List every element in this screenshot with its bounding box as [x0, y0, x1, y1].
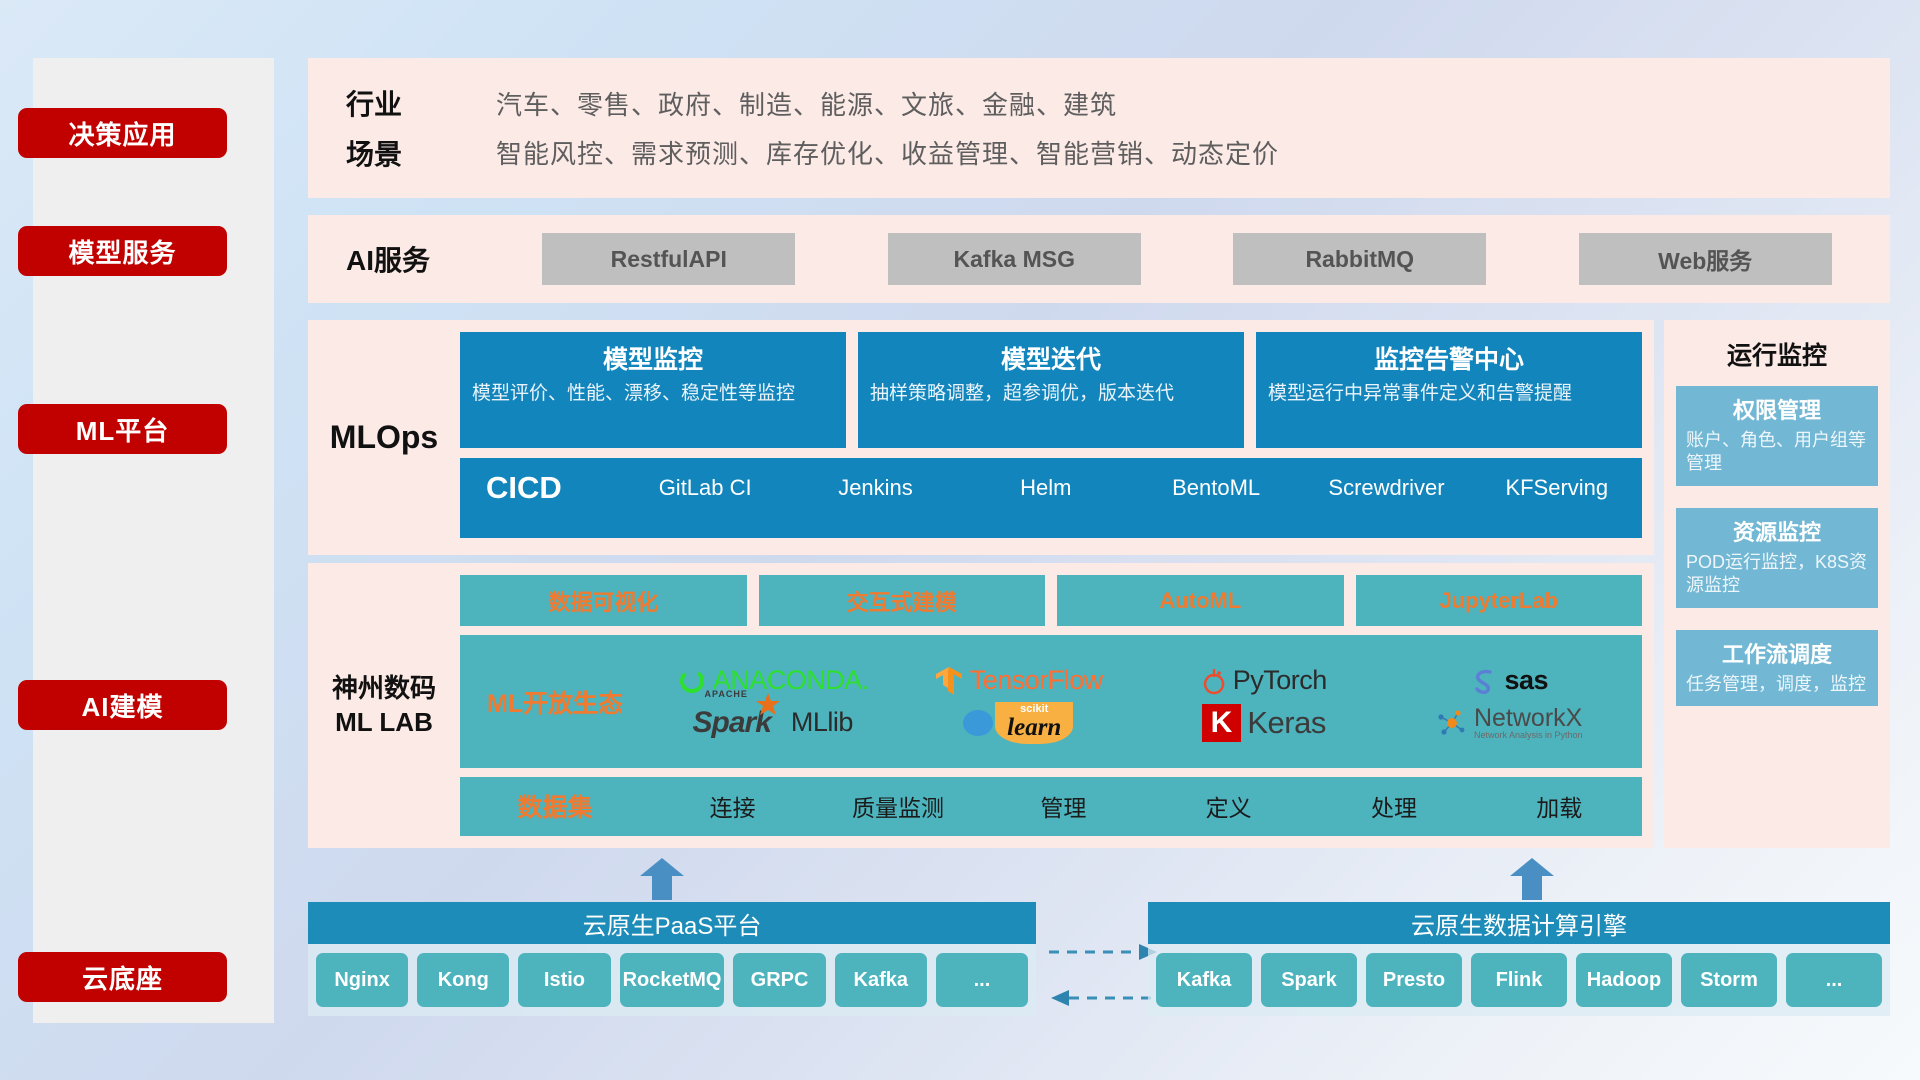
stage-label: 模型服务 [68, 233, 176, 270]
mlops-card-title: 模型监控 [472, 340, 834, 376]
mlops-card[interactable]: 监控告警中心 模型运行中异常事件定义和告警提醒 [1256, 332, 1642, 448]
dataset-item-group: 连接 质量监测 管理 定义 处理 加载 [650, 789, 1642, 823]
ai-service-button[interactable]: Web服务 [1579, 233, 1832, 285]
cloud-chip[interactable]: RocketMQ [620, 953, 725, 1007]
decision-application-band: 行业 场景 汽车、零售、政府、制造、能源、文旅、金融、建筑 智能风控、需求预测、… [308, 58, 1890, 198]
cloud-chip[interactable]: ... [936, 953, 1028, 1007]
dataset-item[interactable]: 连接 [650, 789, 815, 823]
sas-icon [1470, 667, 1498, 695]
ai-service-button-group: RestfulAPI Kafka MSG RabbitMQ Web服务 [496, 233, 1890, 285]
cloud-chip[interactable]: Flink [1471, 953, 1567, 1007]
ml-ecosystem-logo-grid: ANACONDA. TensorFlow [650, 660, 1642, 744]
cicd-title: CICD [460, 458, 620, 506]
monitoring-card[interactable]: 权限管理 账户、角色、用户组等管理 [1676, 386, 1878, 486]
anaconda-icon [677, 666, 707, 696]
stage-label: ML平台 [76, 411, 170, 448]
monitoring-card-desc: 账户、角色、用户组等管理 [1686, 429, 1868, 476]
cicd-item[interactable]: GitLab CI [620, 458, 790, 502]
monitoring-card-title: 权限管理 [1686, 393, 1868, 425]
mlops-card-title: 模型迭代 [870, 340, 1232, 376]
cicd-item-group: GitLab CI Jenkins Helm BentoML Screwdriv… [620, 458, 1642, 502]
mlops-content: 模型监控 模型评价、性能、漂移、稳定性等监控 模型迭代 抽样策略调整，超参调优，… [460, 320, 1654, 555]
cicd-bar: CICD GitLab CI Jenkins Helm BentoML Scre… [460, 458, 1642, 538]
keras-logo-text: Keras [1247, 705, 1325, 741]
monitoring-card[interactable]: 工作流调度 任务管理，调度，监控 [1676, 630, 1878, 706]
ml-lab-label-line2: ML LAB [335, 706, 433, 740]
tensorflow-logo-text: TensorFlow [970, 665, 1103, 696]
pytorch-logo-text: PyTorch [1233, 665, 1327, 696]
decision-value-industry: 汽车、零售、政府、制造、能源、文旅、金融、建筑 [496, 85, 1890, 122]
diagram-canvas: 决策应用 模型服务 ML平台 AI建模 云底座 行业 场景 汽车、零售、政府、制… [0, 0, 1920, 1080]
cicd-item[interactable]: Helm [961, 458, 1131, 502]
spark-mllib-logo: APACHE Spark MLlib [693, 706, 853, 740]
networkx-icon [1436, 708, 1468, 738]
cloud-chip[interactable]: Istio [518, 953, 610, 1007]
cloud-chip[interactable]: ... [1786, 953, 1882, 1007]
arrow-up-paas-icon [640, 858, 684, 900]
pytorch-icon [1201, 666, 1227, 696]
dataset-label: 数据集 [460, 788, 650, 824]
tool-box[interactable]: 数据可视化 [460, 575, 747, 626]
decision-value-group: 汽车、零售、政府、制造、能源、文旅、金融、建筑 智能风控、需求预测、库存优化、收… [496, 73, 1890, 183]
mlops-card[interactable]: 模型监控 模型评价、性能、漂移、稳定性等监控 [460, 332, 846, 448]
networkx-logo: NetworkX Network Analysis in Python [1436, 706, 1583, 740]
ml-lab-label: 神州数码 ML LAB [308, 563, 460, 848]
stage-label: 云底座 [82, 959, 163, 996]
stage-label: 决策应用 [68, 115, 176, 152]
cloud-native-data-engine-title: 云原生数据计算引擎 [1148, 902, 1890, 944]
mlops-card-desc: 模型运行中异常事件定义和告警提醒 [1268, 382, 1630, 407]
dataset-item[interactable]: 定义 [1146, 789, 1311, 823]
dataset-item[interactable]: 管理 [981, 789, 1146, 823]
scikit-learn-icon [963, 708, 997, 738]
mlops-card-title: 监控告警中心 [1268, 340, 1630, 376]
arrow-up-data-engine-icon [1510, 858, 1554, 900]
monitoring-card-desc: POD运行监控，K8S资源监控 [1686, 551, 1868, 598]
decision-label-industry: 行业 [346, 83, 496, 123]
cloud-chip[interactable]: Nginx [316, 953, 408, 1007]
mllib-logo-text: MLlib [791, 707, 853, 738]
dataset-item[interactable]: 处理 [1311, 789, 1476, 823]
cicd-item[interactable]: Jenkins [790, 458, 960, 502]
keras-k-icon: K [1202, 704, 1242, 742]
cloud-native-paas-block: 云原生PaaS平台 Nginx Kong Istio RocketMQ GRPC… [308, 902, 1036, 1016]
spark-apache-text: APACHE [705, 689, 748, 699]
mlops-card-desc: 模型评价、性能、漂移、稳定性等监控 [472, 382, 834, 407]
ai-service-button[interactable]: RabbitMQ [1233, 233, 1486, 285]
cloud-native-data-engine-chip-group: Kafka Spark Presto Flink Hadoop Storm ..… [1148, 944, 1890, 1016]
runtime-monitoring-title: 运行监控 [1676, 336, 1878, 372]
stage-pill-decision[interactable]: 决策应用 [18, 108, 227, 158]
cloud-native-paas-chip-group: Nginx Kong Istio RocketMQ GRPC Kafka ... [308, 944, 1036, 1016]
cloud-chip[interactable]: GRPC [733, 953, 825, 1007]
cloud-chip[interactable]: Kafka [835, 953, 927, 1007]
tensorflow-logo: TensorFlow [934, 665, 1103, 697]
cloud-chip[interactable]: Spark [1261, 953, 1357, 1007]
cloud-native-paas-title: 云原生PaaS平台 [308, 902, 1036, 944]
stage-pill-model-service[interactable]: 模型服务 [18, 226, 227, 276]
cloud-chip[interactable]: Presto [1366, 953, 1462, 1007]
sas-logo-text: sas [1504, 665, 1548, 696]
monitoring-card[interactable]: 资源监控 POD运行监控，K8S资源监控 [1676, 508, 1878, 608]
tool-box[interactable]: AutoML [1057, 575, 1344, 626]
stage-pill-cloud-base[interactable]: 云底座 [18, 952, 227, 1002]
pytorch-logo: PyTorch [1201, 665, 1327, 696]
sas-logo: sas [1470, 665, 1548, 696]
dataset-row: 数据集 连接 质量监测 管理 定义 处理 加载 [460, 777, 1642, 836]
cloud-native-data-engine-block: 云原生数据计算引擎 Kafka Spark Presto Flink Hadoo… [1148, 902, 1890, 1016]
cloud-chip[interactable]: Kafka [1156, 953, 1252, 1007]
stage-rail [33, 58, 274, 1023]
networkx-subtitle: Network Analysis in Python [1474, 731, 1583, 740]
dataset-item[interactable]: 加载 [1477, 789, 1642, 823]
keras-logo: K Keras [1202, 704, 1326, 742]
decision-label-group: 行业 场景 [346, 73, 496, 183]
cicd-item[interactable]: KFServing [1472, 458, 1642, 502]
tool-box-group: 数据可视化 交互式建模 AutoML JupyterLab [460, 575, 1642, 626]
ai-service-button[interactable]: RestfulAPI [542, 233, 795, 285]
stage-pill-ml-platform[interactable]: ML平台 [18, 404, 227, 454]
mlops-band: MLOps 模型监控 模型评价、性能、漂移、稳定性等监控 模型迭代 抽样策略调整… [308, 320, 1654, 555]
cloud-chip[interactable]: Hadoop [1576, 953, 1672, 1007]
mlops-card-group: 模型监控 模型评价、性能、漂移、稳定性等监控 模型迭代 抽样策略调整，超参调优，… [460, 332, 1642, 448]
cloud-chip[interactable]: Kong [417, 953, 509, 1007]
stage-pill-ai-modeling[interactable]: AI建模 [18, 680, 227, 730]
cicd-item[interactable]: BentoML [1131, 458, 1301, 502]
decision-label-scenario: 场景 [346, 133, 496, 173]
mlops-card-desc: 抽样策略调整，超参调优，版本迭代 [870, 382, 1232, 407]
ml-lab-label-line1: 神州数码 [332, 672, 436, 706]
spark-star-icon [755, 692, 781, 718]
tool-box[interactable]: 交互式建模 [759, 575, 1046, 626]
stage-label: AI建模 [81, 687, 163, 724]
monitoring-card-title: 工作流调度 [1686, 637, 1868, 669]
scikit-text: scikit [1007, 704, 1061, 715]
monitoring-card-desc: 任务管理，调度，监控 [1686, 673, 1868, 696]
mlops-card[interactable]: 模型迭代 抽样策略调整，超参调优，版本迭代 [858, 332, 1244, 448]
ai-service-button[interactable]: Kafka MSG [888, 233, 1141, 285]
ai-service-label: AI服务 [346, 239, 496, 279]
tensorflow-icon [934, 665, 964, 697]
mlops-label: MLOps [308, 320, 460, 555]
decision-value-scenario: 智能风控、需求预测、库存优化、收益管理、智能营销、动态定价 [496, 134, 1890, 171]
ml-ecosystem-row: ML开放生态 ANACONDA. [460, 635, 1642, 768]
scikit-learn-logo: scikit learn [963, 702, 1073, 744]
learn-text: learn [1007, 715, 1061, 740]
ml-ecosystem-label: ML开放生态 [460, 684, 650, 720]
networkx-logo-text: NetworkX [1474, 706, 1583, 731]
modeling-content: 数据可视化 交互式建模 AutoML JupyterLab ML开放生态 ANA… [460, 563, 1654, 848]
ai-service-band: AI服务 RestfulAPI Kafka MSG RabbitMQ Web服务 [308, 215, 1890, 303]
dataset-item[interactable]: 质量监测 [815, 789, 980, 823]
scikit-learn-badge: scikit learn [995, 702, 1073, 744]
ai-modeling-band: 神州数码 ML LAB 数据可视化 交互式建模 AutoML JupyterLa… [308, 563, 1654, 848]
tool-box[interactable]: JupyterLab [1356, 575, 1643, 626]
monitoring-card-title: 资源监控 [1686, 515, 1868, 547]
runtime-monitoring-panel: 运行监控 权限管理 账户、角色、用户组等管理 资源监控 POD运行监控，K8S资… [1664, 320, 1890, 848]
cloud-chip[interactable]: Storm [1681, 953, 1777, 1007]
cicd-item[interactable]: Screwdriver [1301, 458, 1471, 502]
bidirectional-dashed-arrows [1044, 940, 1164, 1020]
